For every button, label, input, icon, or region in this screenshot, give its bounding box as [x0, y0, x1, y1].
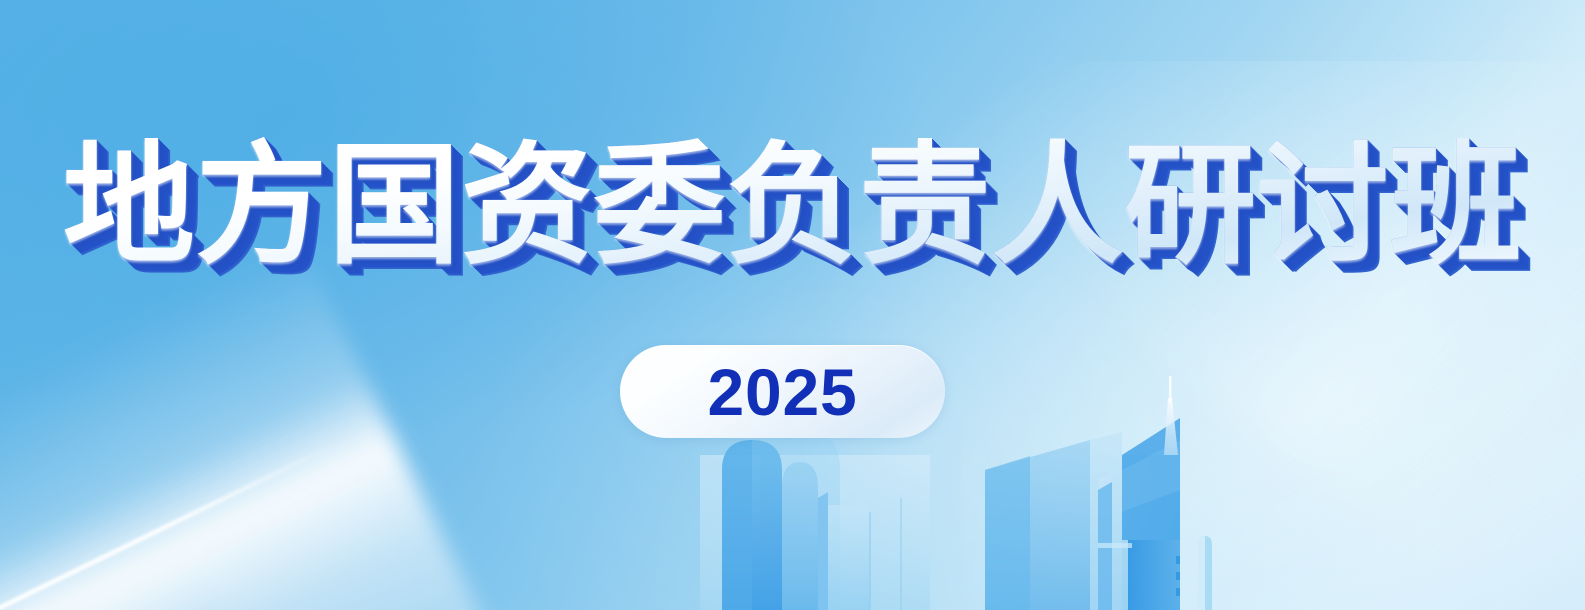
light-streak-bottom-left-shade [0, 483, 306, 610]
city-skyline-illustration [0, 0, 1585, 610]
year-badge: 2025 [620, 345, 945, 438]
year-badge-label: 2025 [708, 359, 858, 425]
banner-title-extrude: 地方国资委负责人研讨班 [63, 140, 1522, 272]
banner-title-face: 地方国资委负责人研讨班 [63, 129, 1522, 283]
light-line-bottom-left [0, 441, 337, 610]
banner-title-wrapper: 地方国资委负责人研讨班 地方国资委负责人研讨班 [0, 140, 1585, 272]
light-streak-top-right-icon [1066, 0, 1585, 600]
light-streak-bottom-left-icon [0, 242, 544, 610]
light-streak-bottom-right-wash [1086, 255, 1585, 610]
banner-title: 地方国资委负责人研讨班 地方国资委负责人研讨班 [63, 140, 1522, 272]
background-tint-right [793, 61, 1585, 610]
conference-banner: 地方国资委负责人研讨班 地方国资委负责人研讨班 2025 [0, 0, 1585, 610]
